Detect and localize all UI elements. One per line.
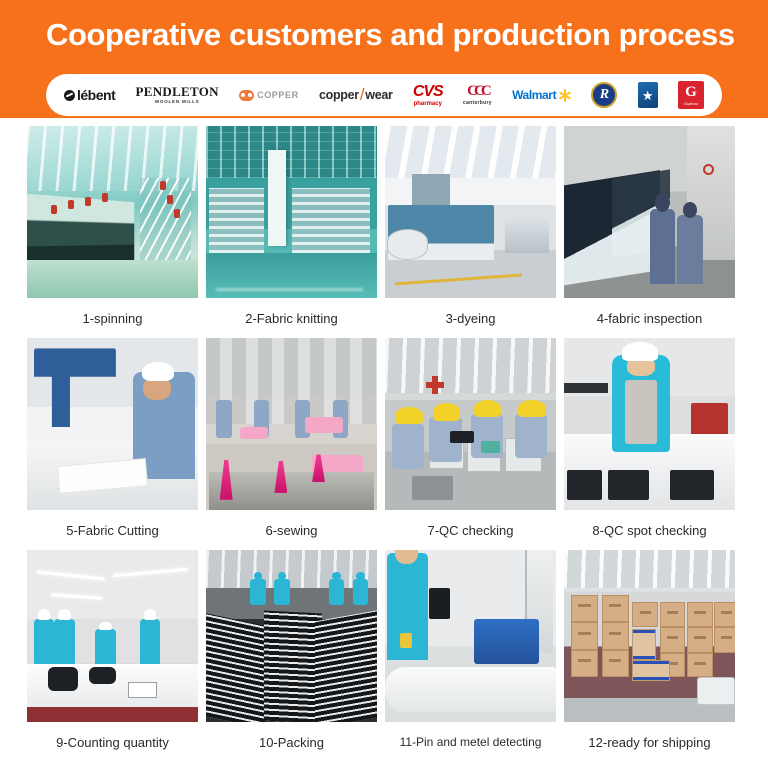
process-step-10: 10-Packing (206, 550, 377, 762)
photo-fabric-knitting (206, 126, 377, 298)
g-brand-letter: G (685, 85, 697, 100)
caption-step-3: 3-dyeing (385, 298, 556, 338)
caption-step-11: 11-Pin and metel detecting (385, 722, 556, 762)
caption-step-8: 8-QC spot checking (564, 510, 735, 550)
process-step-12: 12-ready for shipping (564, 550, 735, 762)
star-icon: ★ (642, 89, 654, 102)
r-circle-logo-text: R (600, 87, 609, 103)
lebent-mark-icon (64, 90, 75, 101)
copperwear-slash-icon: / (360, 85, 364, 105)
caption-step-2: 2-Fabric knitting (206, 298, 377, 338)
caption-step-5: 5-Fabric Cutting (27, 510, 198, 550)
customer-logo-strip: lébent PENDLETON WOOLEN MILLS COPPER cop… (46, 74, 722, 116)
copper-logo-text: COPPER (257, 90, 299, 100)
photo-fabric-inspection (564, 126, 735, 298)
walmart-spark-icon (558, 89, 571, 102)
page-title: Cooperative customers and production pro… (46, 17, 735, 53)
photo-pin-metal-detecting (385, 550, 556, 722)
photo-counting-quantity (27, 550, 198, 722)
photo-qc-spot-checking (564, 338, 735, 510)
pendleton-logo: PENDLETON WOOLEN MILLS (135, 78, 218, 112)
caption-step-7: 7-QC checking (385, 510, 556, 550)
process-step-2: 2-Fabric knitting (206, 126, 377, 338)
g-brand-subtext: Guahoo (684, 101, 698, 106)
caption-step-1: 1-spinning (27, 298, 198, 338)
photo-dyeing (385, 126, 556, 298)
star-badge-logo: ★ (638, 78, 658, 112)
r-circle-logo: R (591, 78, 617, 112)
process-row-1: 1-spinning 2-Fabric knitting 3-dyeing (27, 126, 741, 338)
process-step-7: 7-QC checking (385, 338, 556, 550)
caption-step-4: 4-fabric inspection (564, 298, 735, 338)
canterbury-logo-subtext: canterbury (463, 101, 492, 106)
photo-packing (206, 550, 377, 722)
canterbury-kiwi-icon: CCC (463, 84, 492, 99)
copper-mark-icon (239, 90, 254, 101)
copperwear-text-left: copper (319, 88, 359, 102)
process-row-2: 5-Fabric Cutting 6-sewing (27, 338, 741, 550)
process-step-3: 3-dyeing (385, 126, 556, 338)
pendleton-logo-text: PENDLETON (135, 85, 218, 98)
caption-step-10: 10-Packing (206, 722, 377, 762)
production-process-grid: 1-spinning 2-Fabric knitting 3-dyeing (0, 118, 768, 762)
pendleton-logo-subtext: WOOLEN MILLS (135, 100, 218, 105)
photo-fabric-cutting (27, 338, 198, 510)
header-banner: Cooperative customers and production pro… (0, 0, 768, 118)
photo-ready-for-shipping (564, 550, 735, 722)
photo-sewing (206, 338, 377, 510)
copper-logo: COPPER (239, 78, 299, 112)
process-step-8: 8-QC spot checking (564, 338, 735, 550)
cvs-logo-text: CVS (413, 84, 443, 100)
walmart-logo-text: Walmart (512, 88, 556, 102)
caption-step-12: 12-ready for shipping (564, 722, 735, 762)
process-step-5: 5-Fabric Cutting (27, 338, 198, 550)
caption-step-6: 6-sewing (206, 510, 377, 550)
process-step-1: 1-spinning (27, 126, 198, 338)
canterbury-logo: CCC canterbury (463, 78, 492, 112)
photo-qc-checking (385, 338, 556, 510)
lebent-logo: lébent (64, 78, 115, 112)
caption-step-9: 9-Counting quantity (27, 722, 198, 762)
process-step-6: 6-sewing (206, 338, 377, 550)
walmart-logo: Walmart (512, 78, 571, 112)
process-row-3: 9-Counting quantity 10-Packing (27, 550, 741, 762)
cvs-logo-subtext: pharmacy (413, 101, 443, 107)
copperwear-logo: copper / wear (319, 78, 393, 112)
lebent-logo-text: lébent (77, 87, 115, 103)
g-brand-logo: G Guahoo (678, 78, 704, 112)
process-step-11: 11-Pin and metel detecting (385, 550, 556, 762)
cvs-pharmacy-logo: CVS pharmacy (413, 78, 443, 112)
process-step-9: 9-Counting quantity (27, 550, 198, 762)
photo-spinning (27, 126, 198, 298)
process-step-4: 4-fabric inspection (564, 126, 735, 338)
copperwear-text-right: wear (365, 88, 392, 102)
